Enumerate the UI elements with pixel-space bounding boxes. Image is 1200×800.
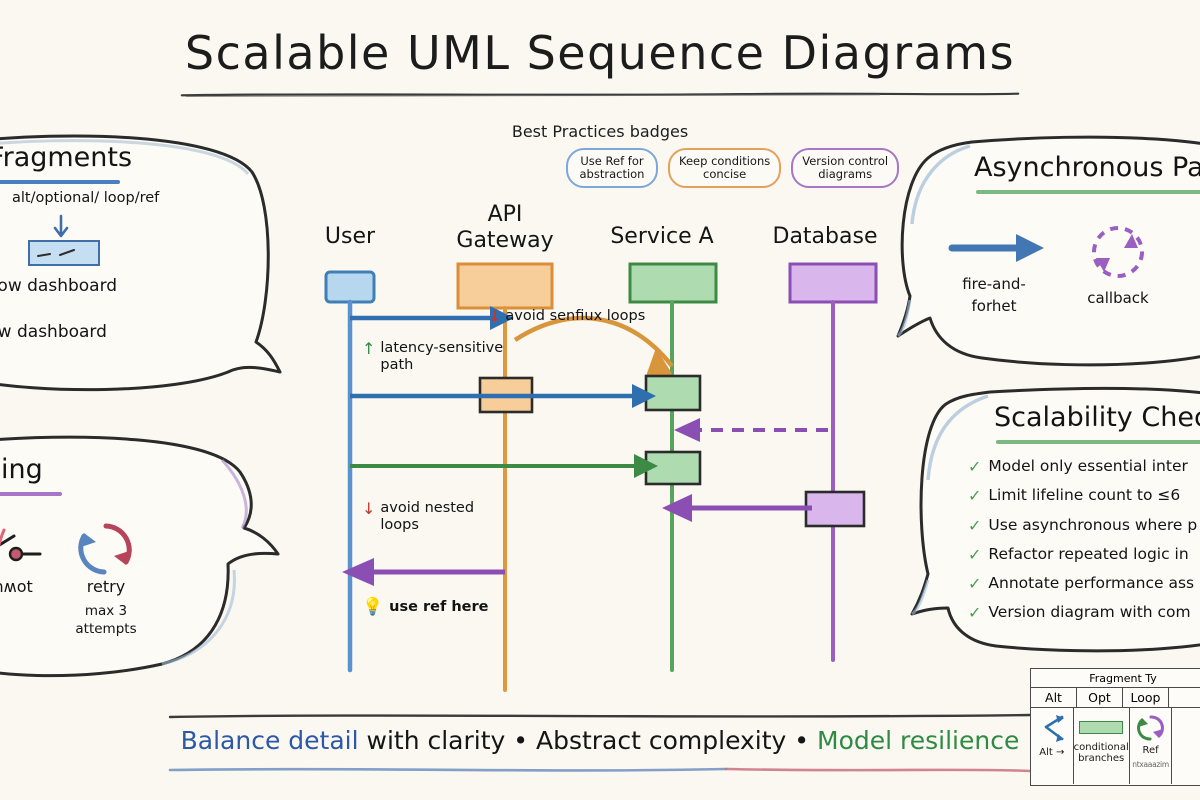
panel-title-underline xyxy=(0,180,120,184)
badges-row: Use Ref for abstraction Keep conditions … xyxy=(566,148,899,188)
circuit-breaker-icon xyxy=(0,524,44,574)
panel-control-flow-fragments: ntrol Flow Fragments alt/optional/ loop/… xyxy=(0,128,282,396)
check-icon: ✓ xyxy=(968,544,981,565)
check-icon: ✓ xyxy=(968,573,981,594)
legend-cell-sub: ntxaaazim xyxy=(1132,760,1169,769)
footer-tagline: Balance detail with clarity • Abstract c… xyxy=(0,726,1200,755)
badge-keep-conditions[interactable]: Keep conditions concise xyxy=(668,148,781,188)
sequence-diagram: User API Gateway Service A Database xyxy=(300,200,920,700)
annotation-text-line1: avoid nested xyxy=(380,500,474,517)
badge-use-ref[interactable]: Use Ref for abstraction xyxy=(566,148,658,188)
arrow-down-icon xyxy=(50,214,72,242)
legend-cell-loop: Ref ntxaaazim xyxy=(1130,708,1173,784)
checklist-item-label: Use asynchronous where p xyxy=(988,515,1197,536)
error-item-sub2: attempts xyxy=(75,622,136,637)
panel-title-underline xyxy=(976,190,1200,194)
legend-cell-alt: Alt → xyxy=(1031,708,1074,784)
checklist-item-label: Version diagram with com xyxy=(988,602,1190,623)
panel-title-underline xyxy=(996,440,1200,444)
event-driven-icon xyxy=(1196,220,1200,288)
checklist-item: ✓ Version diagram with com xyxy=(968,602,1197,623)
annotation-text: avoid senfiux loops xyxy=(505,308,645,325)
legend-col-opt: Opt xyxy=(1077,688,1123,707)
legend-fragment-types: Fragment Ty Alt Opt Loop Alt → condition… xyxy=(1030,668,1200,786)
async-caption-1: callback xyxy=(1087,290,1148,307)
scalability-checklist: ✓ Model only essential inter ✓ Limit lif… xyxy=(968,456,1197,624)
badge-label-line2: diagrams xyxy=(802,168,888,181)
legend-header-row: Alt Opt Loop xyxy=(1031,688,1200,708)
sequence-diagram-svg xyxy=(300,200,920,700)
check-icon: ✓ xyxy=(968,515,981,536)
panel-title-underline xyxy=(0,492,62,496)
badge-label-line2: concise xyxy=(679,168,770,181)
fragment-box-alt xyxy=(28,240,100,266)
annotation-text: use ref here xyxy=(389,599,488,616)
check-icon: ✓ xyxy=(968,602,981,623)
footer-top-rule xyxy=(166,712,1034,720)
check-icon: ✓ xyxy=(968,485,981,506)
zigzag-icon xyxy=(30,242,98,264)
page-title: Scalable UML Sequence Diagrams xyxy=(0,26,1200,80)
badge-label-line1: Version control xyxy=(802,155,888,168)
legend-title: Fragment Ty xyxy=(1031,669,1200,688)
arrow-down-icon: ↓ xyxy=(362,500,375,518)
footer-bottom-rule xyxy=(166,766,1034,774)
error-item-caption-2: retry xyxy=(87,578,125,596)
checklist-item: ✓ Use asynchronous where p xyxy=(968,515,1197,536)
checklist-item: ✓ Refactor repeated logic in xyxy=(968,544,1197,565)
panel-async-patterns: Asynchronous Patte fire-and- forhet call… xyxy=(912,132,1200,372)
panel-error-handling: Error Handling ut topnʍot xyxy=(0,432,262,682)
alt-branch-icon xyxy=(1032,713,1072,745)
check-icon: ✓ xyxy=(968,456,981,477)
opt-box-icon xyxy=(1079,721,1123,734)
fragment-types-caption: alt/optional/ loop/ref xyxy=(12,190,159,206)
panel-title-error-handling: Error Handling xyxy=(0,454,43,485)
annotation-text: avoid nested loops xyxy=(380,500,474,533)
legend-body-row: Alt → conditional branches Ref ntxaaazim xyxy=(1031,708,1200,784)
footer-part-resilience: Model resilience xyxy=(817,726,1019,755)
legend-cell-label: Ref xyxy=(1142,746,1158,757)
panel-scalability-checklist: Scalability Checkli ✓ Model only essenti… xyxy=(930,384,1200,656)
annotation-avoid-sequential-loops: ↓ avoid senfiux loops xyxy=(488,308,645,326)
async-caption-0-line2: forhet xyxy=(972,298,1017,315)
arrow-down-icon: ↓ xyxy=(488,308,501,326)
panel-title-async: Asynchronous Patte xyxy=(974,152,1200,183)
annotation-latency-sensitive: ↑ latency-sensitive path xyxy=(362,340,503,373)
legend-cell-label: Alt → xyxy=(1039,748,1064,759)
checklist-item-label: Refactor repeated logic in xyxy=(988,544,1188,565)
legend-col-loop: Loop xyxy=(1123,688,1169,707)
panel-title-scalability: Scalability Checkli xyxy=(994,402,1200,433)
async-caption-0-line1: fire-and- xyxy=(962,276,1026,293)
checklist-item-label: Limit lifeline count to ≤6 xyxy=(988,485,1180,506)
annotation-text-line2: loops xyxy=(380,517,474,534)
checklist-item: ✓ Model only essential inter xyxy=(968,456,1197,477)
legend-col-alt: Alt xyxy=(1031,688,1077,707)
control-flow-row2: → show dashboard xyxy=(0,322,107,342)
badge-label-line2: abstraction xyxy=(577,168,647,181)
legend-col-extra xyxy=(1169,688,1200,707)
checklist-item: ✓ Annotate performance ass xyxy=(968,573,1197,594)
fire-and-forget-arrow-icon xyxy=(946,228,1052,268)
annotation-text-line2: path xyxy=(380,357,503,374)
annotation-text: latency-sensitive path xyxy=(380,340,503,373)
legend-cell-extra xyxy=(1172,708,1200,784)
callback-loop-icon xyxy=(1080,220,1156,288)
legend-cell-label: conditional branches xyxy=(1074,743,1129,764)
control-flow-row1: uth success] → show dashboard xyxy=(0,276,117,296)
badge-version-control[interactable]: Version control diagrams xyxy=(791,148,899,188)
legend-cell-opt: conditional branches xyxy=(1074,708,1130,784)
title-underline xyxy=(180,92,1020,97)
footer-part-balance: Balance detail xyxy=(181,726,359,755)
badge-label-line1: Keep conditions xyxy=(679,155,770,168)
checklist-item-label: Model only essential inter xyxy=(988,456,1187,477)
retry-loop-icon xyxy=(70,518,142,580)
checklist-item-label: Annotate performance ass xyxy=(988,573,1194,594)
error-item-sub1: max 3 xyxy=(85,604,127,619)
badge-label-line1: Use Ref for xyxy=(577,155,647,168)
annotation-use-ref-here: 💡 use ref here xyxy=(362,598,489,618)
infographic-canvas: Scalable UML Sequence Diagrams Best Prac… xyxy=(0,0,1200,800)
checklist-item: ✓ Limit lifeline count to ≤6 xyxy=(968,485,1197,506)
lightbulb-icon: 💡 xyxy=(362,598,383,618)
error-item-caption-1: topnʍot xyxy=(0,578,33,596)
footer-part-middle: with clarity • Abstract complexity • xyxy=(359,726,817,755)
annotation-avoid-nested-loops: ↓ avoid nested loops xyxy=(362,500,474,533)
panel-title-control-flow: ntrol Flow Fragments xyxy=(0,142,132,173)
badges-heading: Best Practices badges xyxy=(512,122,688,141)
annotation-text-line1: latency-sensitive xyxy=(380,340,503,357)
loop-icon xyxy=(1134,713,1168,743)
arrow-up-icon: ↑ xyxy=(362,340,375,358)
